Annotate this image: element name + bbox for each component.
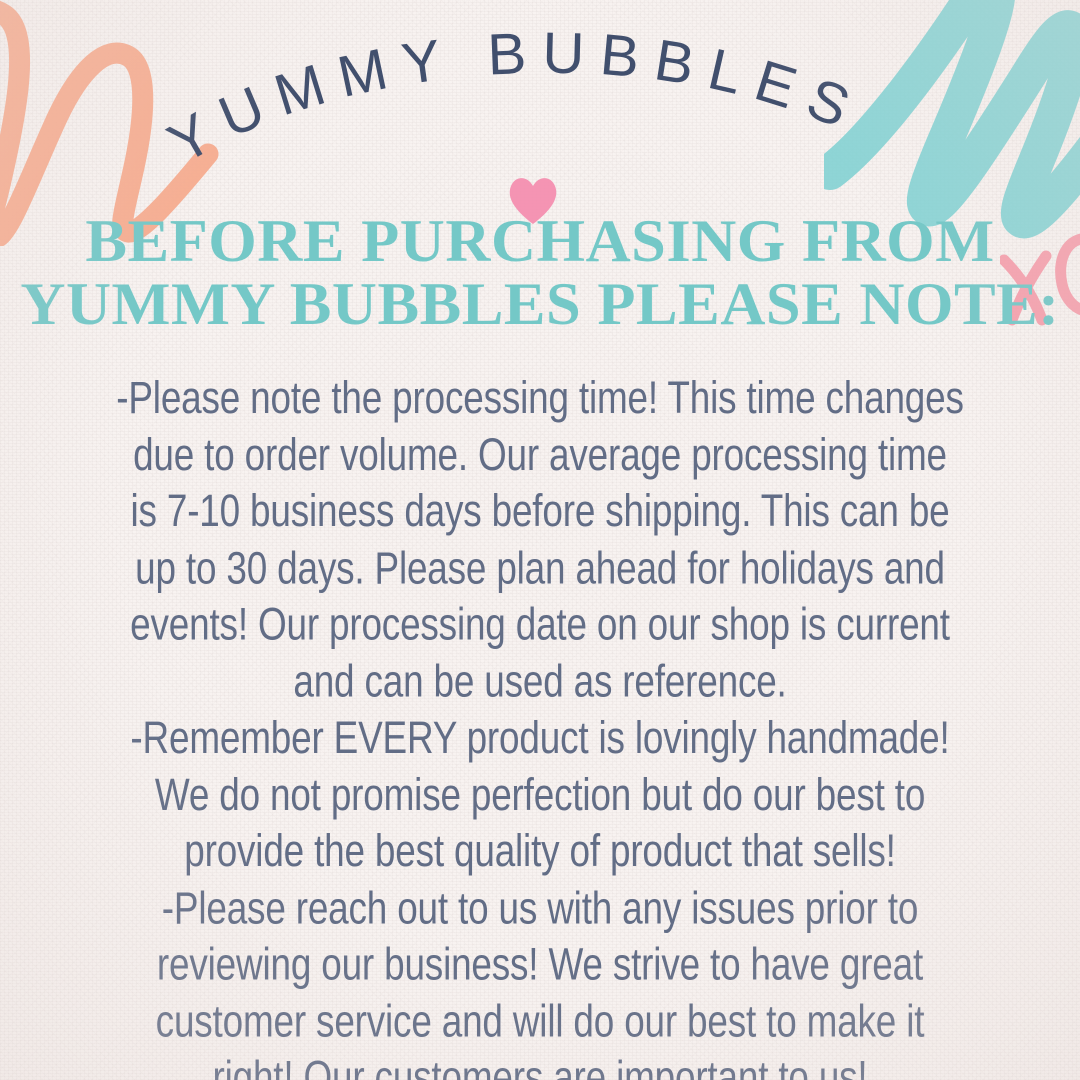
paragraph-processing-time: -Please note the processing time! This t… <box>86 370 993 710</box>
body-line: provide the best quality of product that… <box>86 823 993 880</box>
arch-brand-title-text: YUMMY BUBBLES <box>158 20 873 176</box>
body-line: -Please reach out to us with any issues … <box>86 880 993 937</box>
body-line: customer service and will do our best to… <box>86 993 993 1050</box>
body-line: reviewing our business! We strive to hav… <box>86 937 993 994</box>
headline: BEFORE PURCHASING FROM YUMMY BUBBLES PLE… <box>0 210 1080 336</box>
body-line: due to order volume. Our average process… <box>86 427 993 484</box>
body-line: and can be used as reference. <box>86 653 993 710</box>
body-line: -Remember EVERY product is lovingly hand… <box>86 710 993 767</box>
paragraph-customer-service: -Please reach out to us with any issues … <box>86 880 993 1080</box>
headline-line-2: YUMMY BUBBLES PLEASE NOTE: <box>0 273 1080 336</box>
paragraph-handmade: -Remember EVERY product is lovingly hand… <box>86 710 993 880</box>
body-line: up to 30 days. Please plan ahead for hol… <box>86 540 993 597</box>
body-line: events! Our processing date on our shop … <box>86 597 993 654</box>
body-line: is 7-10 business days before shipping. T… <box>86 483 993 540</box>
body-line: -Please note the processing time! This t… <box>86 370 993 427</box>
headline-line-1: BEFORE PURCHASING FROM <box>0 210 1080 273</box>
arch-brand-title: YUMMY BUBBLES <box>0 0 1080 226</box>
body-line: We do not promise perfection but do our … <box>86 767 993 824</box>
policy-graphic-canvas: YUMMY BUBBLES BEFORE PURCHASING FROM YUM… <box>0 0 1080 1080</box>
body-copy: -Please note the processing time! This t… <box>86 370 993 1080</box>
body-line: right! Our customers are important to us… <box>86 1050 993 1080</box>
